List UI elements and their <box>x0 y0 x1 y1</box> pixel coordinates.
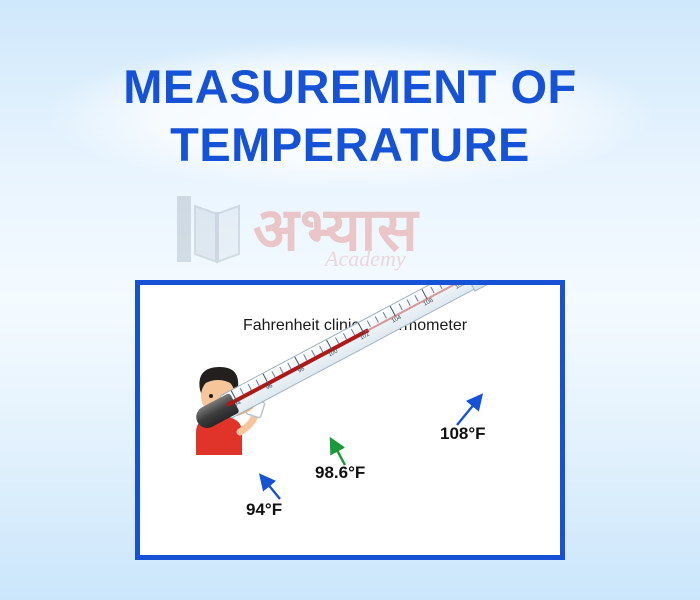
label-986f: 98.6°F <box>315 463 365 483</box>
arrow-108f <box>457 397 480 425</box>
page-title-line-1: MEASUREMENT OF <box>123 60 577 113</box>
thermometer-stem <box>218 285 479 420</box>
arrow-986f <box>332 441 345 465</box>
open-book-icon <box>175 192 259 270</box>
illustration-inner: Fahrenheit clinical thermometer <box>140 285 560 555</box>
arrow-94f <box>262 477 280 499</box>
label-108f: 108°F <box>440 424 486 444</box>
poster-canvas: MEASUREMENT OF TEMPERATURE अभ्यास Academ… <box>0 0 700 600</box>
illustration-frame: Fahrenheit clinical thermometer <box>135 280 565 560</box>
label-94f: 94°F <box>246 500 282 520</box>
watermark-brand: अभ्यास <box>253 186 419 268</box>
watermark-logo: अभ्यास Academy <box>175 190 535 280</box>
page-title: MEASUREMENT OF TEMPERATURE <box>0 58 700 174</box>
watermark-subtitle: Academy <box>325 246 406 272</box>
page-title-line-2: TEMPERATURE <box>0 116 700 174</box>
